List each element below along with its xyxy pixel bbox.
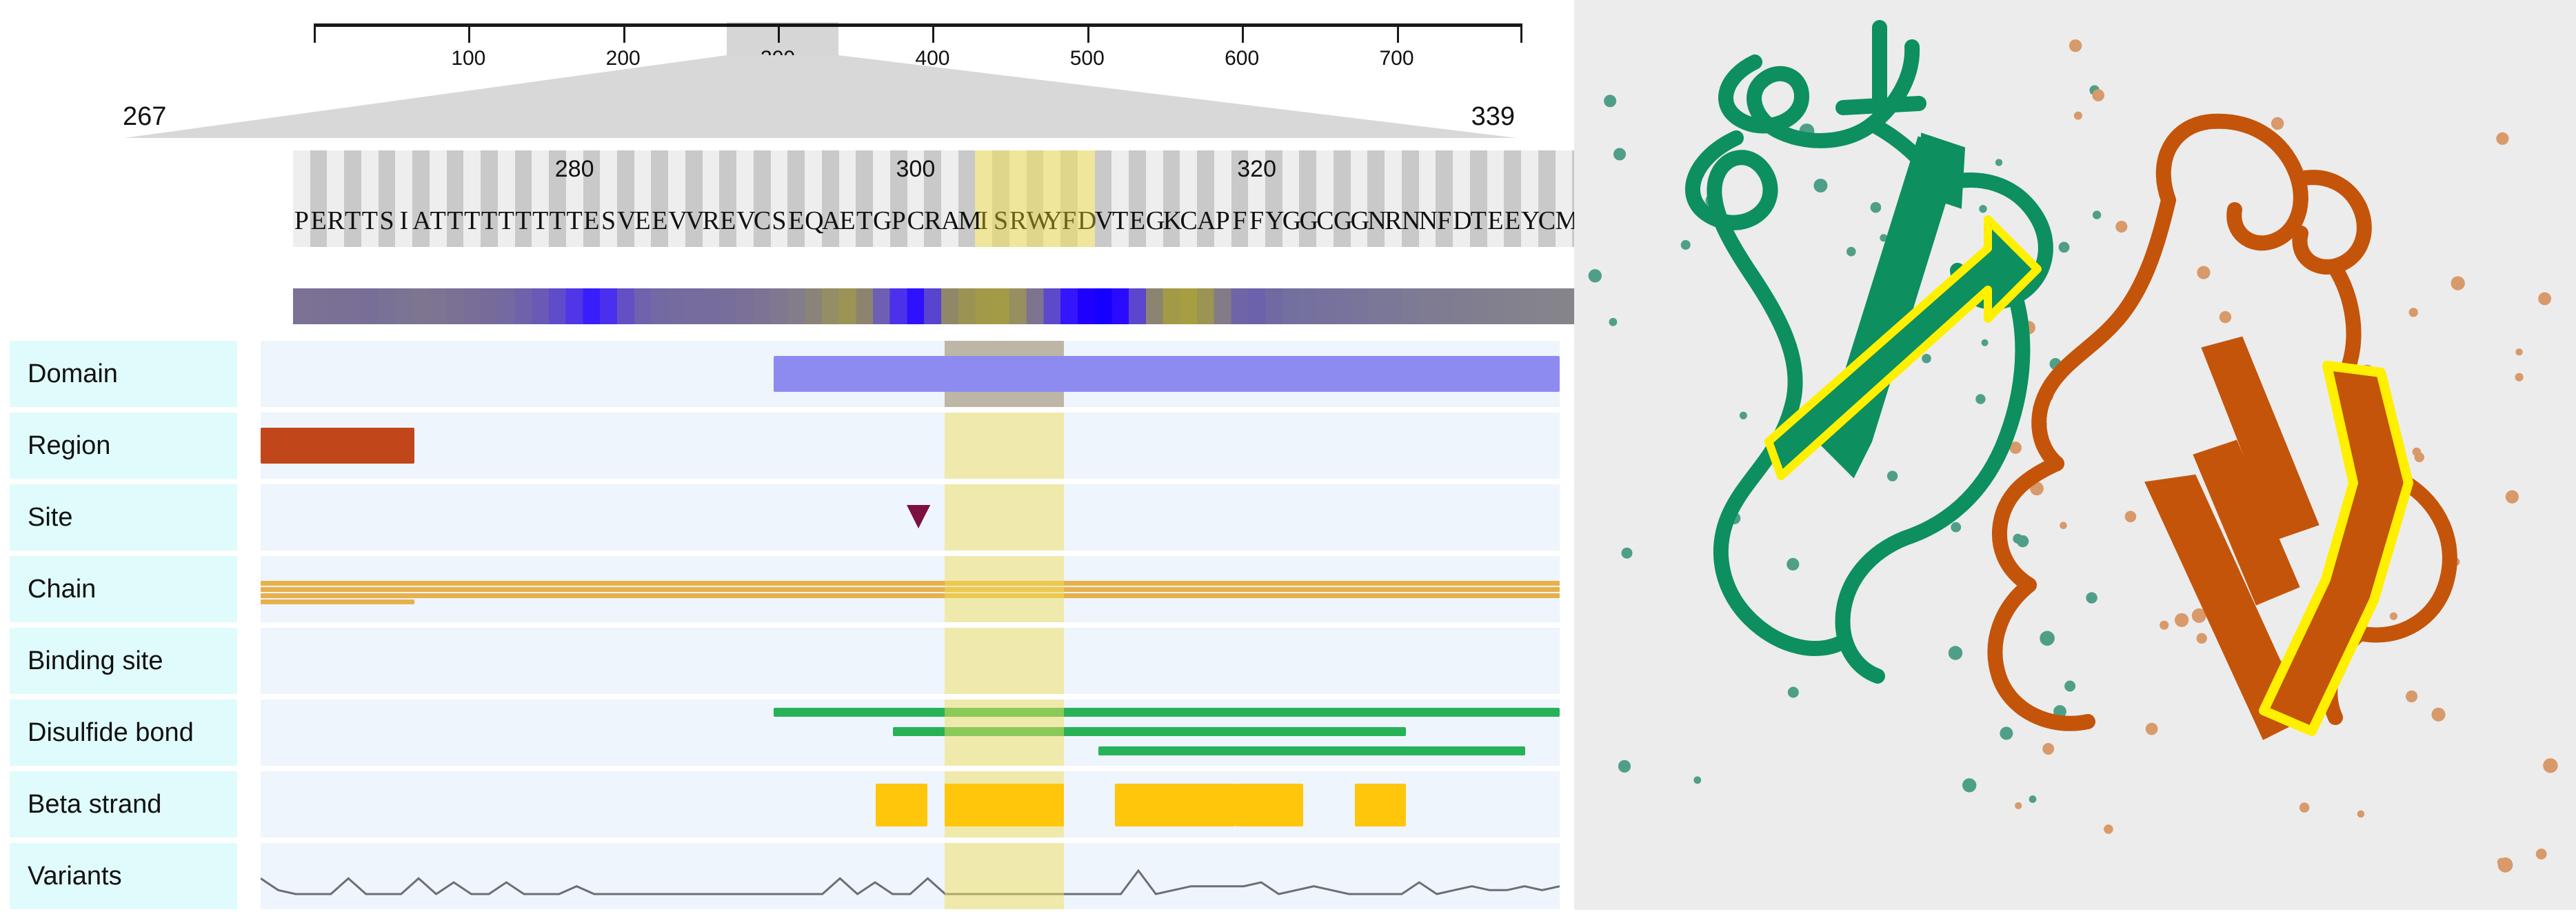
sequence-residue[interactable]: N <box>1419 206 1436 236</box>
water-dot <box>2498 858 2513 873</box>
sequence-residue[interactable]: T <box>532 206 549 236</box>
sequence-residue[interactable]: C <box>1316 206 1334 236</box>
sequence-residue[interactable]: Y <box>1043 206 1060 236</box>
sequence-residue[interactable]: T <box>344 206 361 236</box>
sequence-residue[interactable]: P <box>293 206 310 236</box>
track-body-chain[interactable] <box>261 556 1560 622</box>
feature-track-disulfide-bond: Disulfide bond <box>0 697 1574 769</box>
sequence-residue[interactable]: A <box>412 206 430 236</box>
water-dot <box>2538 293 2551 306</box>
water-dot <box>2536 849 2547 860</box>
sequence-residue[interactable]: T <box>1111 206 1129 236</box>
water-dot <box>1740 412 1747 419</box>
protein-feature-viewer-page: 100200300400500600700 267 339 280300320 … <box>0 0 2576 910</box>
water-dot <box>2069 39 2082 52</box>
sequence-residue[interactable]: T <box>430 206 447 236</box>
sequence-residues: PERTTSIATTTTTTTTTESVEEVVREVCSEQAETGPCRAM… <box>293 206 1589 241</box>
sequence-residue[interactable]: G <box>1334 206 1351 236</box>
sequence-residue[interactable]: P <box>1214 206 1231 236</box>
track-highlight-column <box>945 700 1065 766</box>
sequence-residue[interactable]: Q <box>805 206 822 236</box>
water-dot <box>1813 179 1827 192</box>
chain-a-cartoon[interactable] <box>1693 28 2046 676</box>
water-dot <box>1871 202 1882 213</box>
sequence-residue[interactable]: S <box>771 206 788 236</box>
track-label-binding-site[interactable]: Binding site <box>10 628 237 694</box>
sequence-residue[interactable]: E <box>651 206 668 236</box>
sequence-position-label: 320 <box>1237 156 1276 183</box>
sequence-residue[interactable]: A <box>1197 206 1214 236</box>
sequence-strip[interactable]: 280300320 PERTTSIATTTTTTTTTESVEEVVREVCSE… <box>293 150 1589 247</box>
track-label-text: Disulfide bond <box>28 718 194 748</box>
ruler-tick <box>468 23 470 43</box>
feature-track-binding-site: Binding site <box>0 625 1574 697</box>
sequence-residue[interactable]: V <box>668 206 685 236</box>
water-dot <box>2175 613 2188 627</box>
water-dot <box>2015 802 2022 809</box>
sequence-residue[interactable]: A <box>822 206 839 236</box>
water-dot <box>2406 691 2417 702</box>
sequence-residue[interactable]: S <box>379 206 396 236</box>
track-body-domain[interactable] <box>261 341 1560 407</box>
sequence-residue[interactable]: T <box>856 206 873 236</box>
water-dot <box>1979 205 1986 212</box>
sequence-residue[interactable]: R <box>1385 206 1402 236</box>
water-dot <box>2104 824 2113 834</box>
sequence-residue[interactable]: T <box>566 206 583 236</box>
sequence-residue[interactable]: G <box>1146 206 1163 236</box>
ruler-tick <box>623 23 625 43</box>
sequence-residue[interactable]: R <box>327 206 344 236</box>
sequence-residue[interactable]: V <box>617 206 634 236</box>
sequence-residue[interactable]: N <box>1402 206 1419 236</box>
beta-strand-block[interactable] <box>1115 784 1235 826</box>
water-dot <box>2415 453 2424 462</box>
water-dot <box>2064 681 2075 692</box>
sequence-residue[interactable]: E <box>1487 206 1505 236</box>
sequence-residue[interactable]: E <box>583 206 601 236</box>
sequence-position-labels: 280300320 <box>293 156 1589 188</box>
track-label-text: Variants <box>28 862 122 891</box>
water-dot <box>2042 743 2054 755</box>
sequence-residue[interactable]: T <box>549 206 566 236</box>
overview-ruler[interactable]: 100200300400500600700 <box>314 15 1520 57</box>
sequence-residue[interactable]: A <box>941 206 958 236</box>
track-label-chain[interactable]: Chain <box>10 556 237 622</box>
ruler-tick <box>314 23 316 43</box>
sequence-residue[interactable]: K <box>1163 206 1180 236</box>
track-label-variants[interactable]: Variants <box>10 843 237 909</box>
sequence-position-label: 280 <box>555 156 594 183</box>
sequence-residue[interactable]: C <box>1538 206 1556 236</box>
track-label-region[interactable]: Region <box>10 413 237 479</box>
track-body-site[interactable] <box>261 484 1560 551</box>
water-dot <box>1951 522 1961 533</box>
track-body-region[interactable] <box>261 413 1560 479</box>
water-dot <box>1604 95 1616 107</box>
sequence-residue[interactable]: T <box>1470 206 1487 236</box>
sequence-residue[interactable]: T <box>498 206 515 236</box>
sequence-residue[interactable]: R <box>1009 206 1027 236</box>
variants-line <box>261 871 1560 894</box>
sequence-residue[interactable]: V <box>736 206 754 236</box>
water-dot <box>2160 621 2169 630</box>
track-body-disulfide-bond[interactable] <box>261 700 1560 766</box>
track-label-text: Site <box>28 503 72 533</box>
water-dot <box>2093 210 2101 219</box>
sequence-residue[interactable]: E <box>1504 206 1521 236</box>
track-highlight-column <box>945 556 1065 622</box>
track-label-text: Binding site <box>28 646 163 676</box>
ruler-tick-label: 100 <box>451 47 485 70</box>
structure-viewer-panel[interactable] <box>1574 0 2576 910</box>
track-highlight-column <box>945 413 1065 479</box>
water-dot <box>2040 631 2055 646</box>
track-label-site[interactable]: Site <box>10 484 237 551</box>
water-dot <box>2543 758 2557 773</box>
track-body-binding-site[interactable] <box>261 628 1560 694</box>
sequence-position-label: 300 <box>896 156 936 183</box>
water-dot <box>1787 558 1799 571</box>
ruler-tick <box>932 23 934 43</box>
beta-strand-block[interactable] <box>1355 784 1406 826</box>
water-dot <box>1922 354 1931 364</box>
beta-strand-block[interactable] <box>876 784 927 826</box>
feature-track-chain: Chain <box>0 553 1574 625</box>
feature-track-domain: Domain <box>0 338 1574 410</box>
ruler-tick-label: 500 <box>1070 47 1105 70</box>
water-dot <box>2496 132 2508 145</box>
water-dot <box>1788 687 1799 698</box>
ruler-tick <box>1242 23 1244 43</box>
ruler-tick-label: 600 <box>1225 47 1259 70</box>
sequence-residue[interactable]: M <box>958 206 976 236</box>
sequence-residue[interactable]: T <box>463 206 481 236</box>
feature-track-region: Region <box>0 410 1574 482</box>
water-dot <box>2197 266 2210 279</box>
disulfide-bond-line[interactable] <box>774 708 1560 717</box>
sequence-residue[interactable]: V <box>1095 206 1112 236</box>
conservation-track[interactable] <box>293 288 1589 324</box>
track-body-beta-strand[interactable] <box>261 771 1560 837</box>
sequence-residue[interactable]: C <box>754 206 771 236</box>
ruler-axis <box>314 23 1520 27</box>
water-dot <box>1982 339 1989 346</box>
water-dot <box>2451 276 2465 290</box>
sequence-residue[interactable]: E <box>719 206 736 236</box>
sequence-residue[interactable]: Y <box>1521 206 1538 236</box>
sequence-residue[interactable]: E <box>787 206 805 236</box>
water-dot <box>2146 723 2158 735</box>
water-dot <box>2409 308 2418 317</box>
track-highlight-column <box>945 484 1065 551</box>
sequence-residue[interactable]: Y <box>1265 206 1282 236</box>
track-highlight-column <box>945 628 1065 694</box>
feature-tracks: DomainRegionSiteChainBinding siteDisulfi… <box>0 338 1574 912</box>
ruler-tick-label: 400 <box>915 47 949 70</box>
sequence-residue[interactable]: G <box>1351 206 1368 236</box>
water-dot <box>1887 470 1898 481</box>
track-label-beta-strand[interactable]: Beta strand <box>10 771 237 837</box>
sequence-residue[interactable]: R <box>703 206 720 236</box>
water-dot <box>2357 811 2365 818</box>
track-label-disulfide-bond[interactable]: Disulfide bond <box>10 700 237 766</box>
sequence-residue[interactable]: I <box>395 206 412 236</box>
water-dot <box>1618 760 1631 773</box>
chain-line[interactable] <box>261 599 414 604</box>
water-dot <box>1613 148 1626 161</box>
sequence-residue[interactable]: F <box>1436 206 1453 236</box>
water-dot <box>2115 221 2127 232</box>
water-dot <box>2300 802 2310 813</box>
chain-b-cartoon[interactable] <box>1995 121 2449 738</box>
ruler-tick <box>1520 23 1522 43</box>
water-dot <box>1589 269 1602 282</box>
water-dot <box>2515 373 2524 381</box>
sequence-residue[interactable]: N <box>1367 206 1385 236</box>
sequence-residue[interactable]: C <box>907 206 925 236</box>
sequence-residue[interactable]: M <box>1556 206 1573 236</box>
water-dot <box>2074 112 2082 120</box>
track-label-text: Beta strand <box>28 790 161 820</box>
water-dot <box>2515 348 2522 355</box>
sequence-residue[interactable]: T <box>481 206 498 236</box>
sequence-residue[interactable]: D <box>1078 206 1095 236</box>
water-dot <box>1962 778 1976 792</box>
track-highlight-column <box>945 843 1065 909</box>
variants-profile[interactable] <box>261 843 1560 909</box>
structure-canvas[interactable] <box>1574 0 2576 910</box>
disulfide-bond-line[interactable] <box>1098 746 1526 755</box>
sequence-residue[interactable]: S <box>600 206 617 236</box>
feature-bar[interactable] <box>774 356 1560 392</box>
feature-track-beta-strand: Beta strand <box>0 769 1574 840</box>
water-dot <box>2017 535 2029 547</box>
sequence-residue[interactable]: E <box>310 206 328 236</box>
water-dot <box>2000 727 2013 740</box>
feature-bar[interactable] <box>261 428 414 464</box>
sequence-residue[interactable]: G <box>1282 206 1300 236</box>
water-dot <box>2432 708 2446 722</box>
sequence-residue[interactable]: T <box>361 206 379 236</box>
sequence-residue[interactable]: E <box>1129 206 1146 236</box>
site-marker-icon[interactable] <box>907 505 930 528</box>
sequence-residue[interactable]: P <box>890 206 907 236</box>
chain-line[interactable] <box>261 587 1560 592</box>
ruler-tick <box>1397 23 1399 43</box>
sequence-residue[interactable]: F <box>1248 206 1265 236</box>
water-dot <box>2390 613 2397 620</box>
water-dot <box>2125 511 2137 523</box>
ruler-tick-label: 200 <box>606 47 641 70</box>
water-dot <box>1949 646 1962 660</box>
water-dot <box>2092 89 2104 101</box>
track-label-domain[interactable]: Domain <box>10 341 237 407</box>
track-label-text: Domain <box>28 359 118 389</box>
sequence-residue[interactable]: I <box>975 206 992 236</box>
beta-strand-block[interactable] <box>945 784 1065 826</box>
sequence-residue[interactable]: T <box>447 206 464 236</box>
water-dot <box>2086 592 2097 603</box>
sequence-residue[interactable]: S <box>992 206 1009 236</box>
zoom-end-label: 339 <box>1471 102 1515 132</box>
ruler-tick-label: 700 <box>1379 47 1413 70</box>
water-dot <box>1975 394 1985 404</box>
sequence-residue[interactable]: E <box>839 206 856 236</box>
sequence-residue[interactable]: G <box>873 206 890 236</box>
water-dot <box>1609 318 1618 326</box>
water-dot <box>2220 311 2231 323</box>
ruler-tick <box>1087 23 1089 43</box>
sequence-residue[interactable]: F <box>1231 206 1249 236</box>
feature-viewer-panel: 100200300400500600700 267 339 280300320 … <box>0 0 1574 910</box>
sequence-residue[interactable]: V <box>685 206 703 236</box>
water-dot <box>2506 490 2519 504</box>
sequence-residue[interactable]: G <box>1299 206 1316 236</box>
sequence-residue[interactable]: C <box>1180 206 1197 236</box>
track-label-text: Chain <box>28 575 96 604</box>
sequence-residue[interactable]: T <box>515 206 532 236</box>
track-label-text: Region <box>28 431 110 461</box>
conservation-gradient <box>293 288 1589 324</box>
water-dot <box>2271 117 2284 130</box>
sequence-residue[interactable]: R <box>924 206 941 236</box>
feature-track-variants: Variants <box>0 840 1574 912</box>
ruler-selection-window[interactable] <box>727 22 838 58</box>
chain-line[interactable] <box>261 581 1560 586</box>
feature-track-site: Site <box>0 482 1574 553</box>
water-dot <box>2029 795 2037 803</box>
water-dot <box>2059 242 2070 253</box>
water-dot <box>1847 247 1856 257</box>
water-dot <box>2197 633 2207 644</box>
chain-line[interactable] <box>261 593 1560 598</box>
track-body-variants[interactable] <box>261 843 1560 909</box>
beta-strand-block[interactable] <box>1235 784 1303 826</box>
sequence-residue[interactable]: E <box>634 206 652 236</box>
water-dot <box>1693 776 1701 784</box>
sequence-residue[interactable]: W <box>1027 206 1044 236</box>
water-dot <box>1622 548 1633 559</box>
zoom-start-label: 267 <box>123 102 166 132</box>
water-dot <box>2060 522 2067 529</box>
sequence-residue[interactable]: F <box>1060 206 1078 236</box>
water-dot <box>1995 159 2002 166</box>
water-dot <box>1681 240 1691 250</box>
sequence-residue[interactable]: D <box>1453 206 1470 236</box>
